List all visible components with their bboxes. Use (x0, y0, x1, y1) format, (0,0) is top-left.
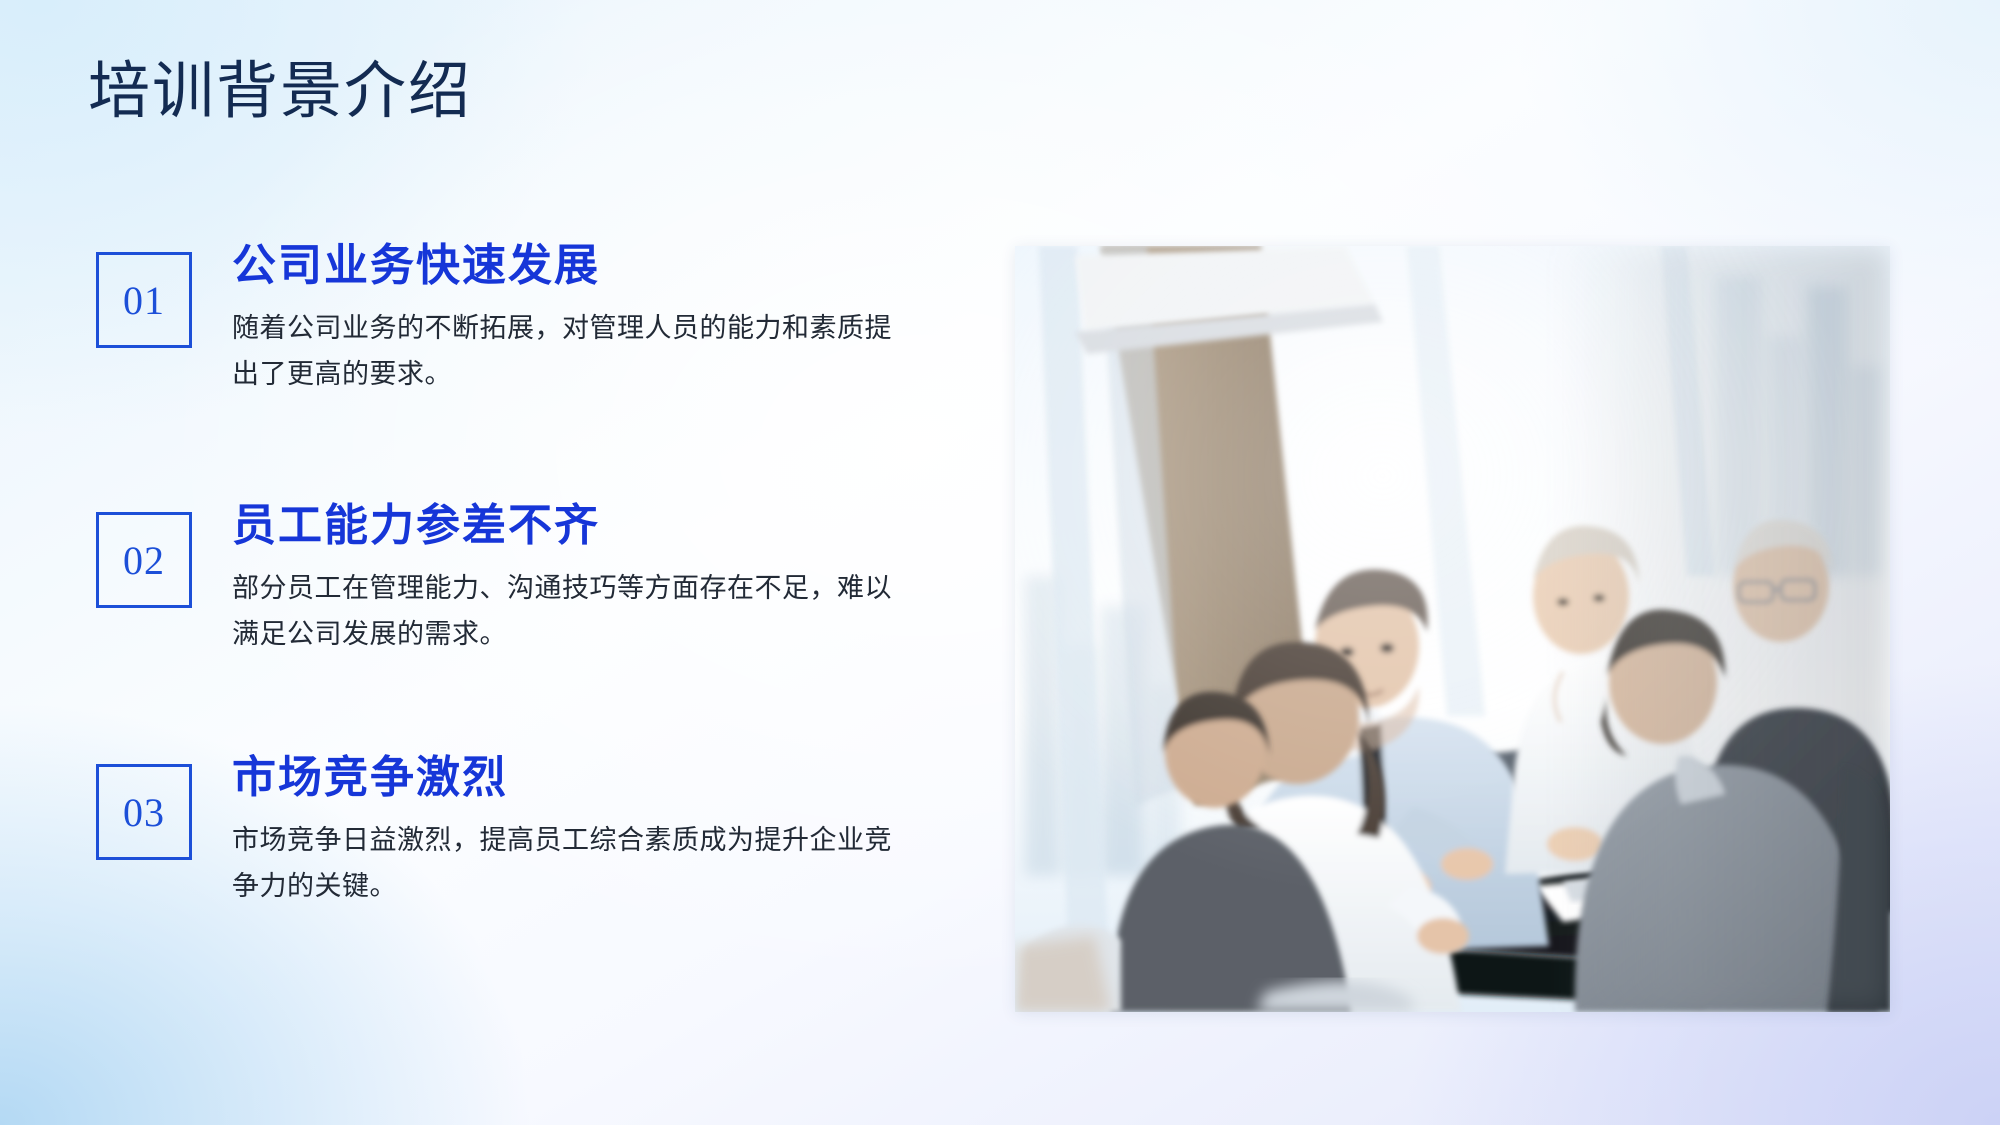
item-text-group: 公司业务快速发展 随着公司业务的不断拓展，对管理人员的能力和素质提出了更高的要求… (232, 240, 956, 398)
item-number-badge: 01 (96, 252, 192, 348)
list-item: 02 员工能力参差不齐 部分员工在管理能力、沟通技巧等方面存在不足，难以满足公司… (96, 500, 956, 700)
slide-canvas: 培训背景介绍 01 公司业务快速发展 随着公司业务的不断拓展，对管理人员的能力和… (0, 0, 2000, 1125)
item-text-group: 员工能力参差不齐 部分员工在管理能力、沟通技巧等方面存在不足，难以满足公司发展的… (232, 500, 956, 658)
item-body: 随着公司业务的不断拓展，对管理人员的能力和素质提出了更高的要求。 (232, 305, 912, 398)
item-number-badge: 03 (96, 764, 192, 860)
item-heading: 公司业务快速发展 (232, 240, 956, 291)
meeting-photo-illustration (1015, 246, 1890, 1012)
item-number-label: 03 (123, 789, 165, 836)
item-heading: 员工能力参差不齐 (232, 500, 956, 551)
item-number-badge: 02 (96, 512, 192, 608)
item-heading: 市场竞争激烈 (232, 752, 956, 803)
item-body: 市场竞争日益激烈，提高员工综合素质成为提升企业竞争力的关键。 (232, 817, 912, 910)
item-number-label: 01 (123, 277, 165, 324)
list-item: 01 公司业务快速发展 随着公司业务的不断拓展，对管理人员的能力和素质提出了更高… (96, 240, 956, 440)
page-title: 培训背景介绍 (88, 56, 472, 129)
meeting-photo (1015, 246, 1890, 1012)
content-list: 01 公司业务快速发展 随着公司业务的不断拓展，对管理人员的能力和素质提出了更高… (96, 240, 956, 952)
list-item: 03 市场竞争激烈 市场竞争日益激烈，提高员工综合素质成为提升企业竞争力的关键。 (96, 752, 956, 952)
item-body: 部分员工在管理能力、沟通技巧等方面存在不足，难以满足公司发展的需求。 (232, 565, 912, 658)
item-number-label: 02 (123, 537, 165, 584)
item-text-group: 市场竞争激烈 市场竞争日益激烈，提高员工综合素质成为提升企业竞争力的关键。 (232, 752, 956, 910)
